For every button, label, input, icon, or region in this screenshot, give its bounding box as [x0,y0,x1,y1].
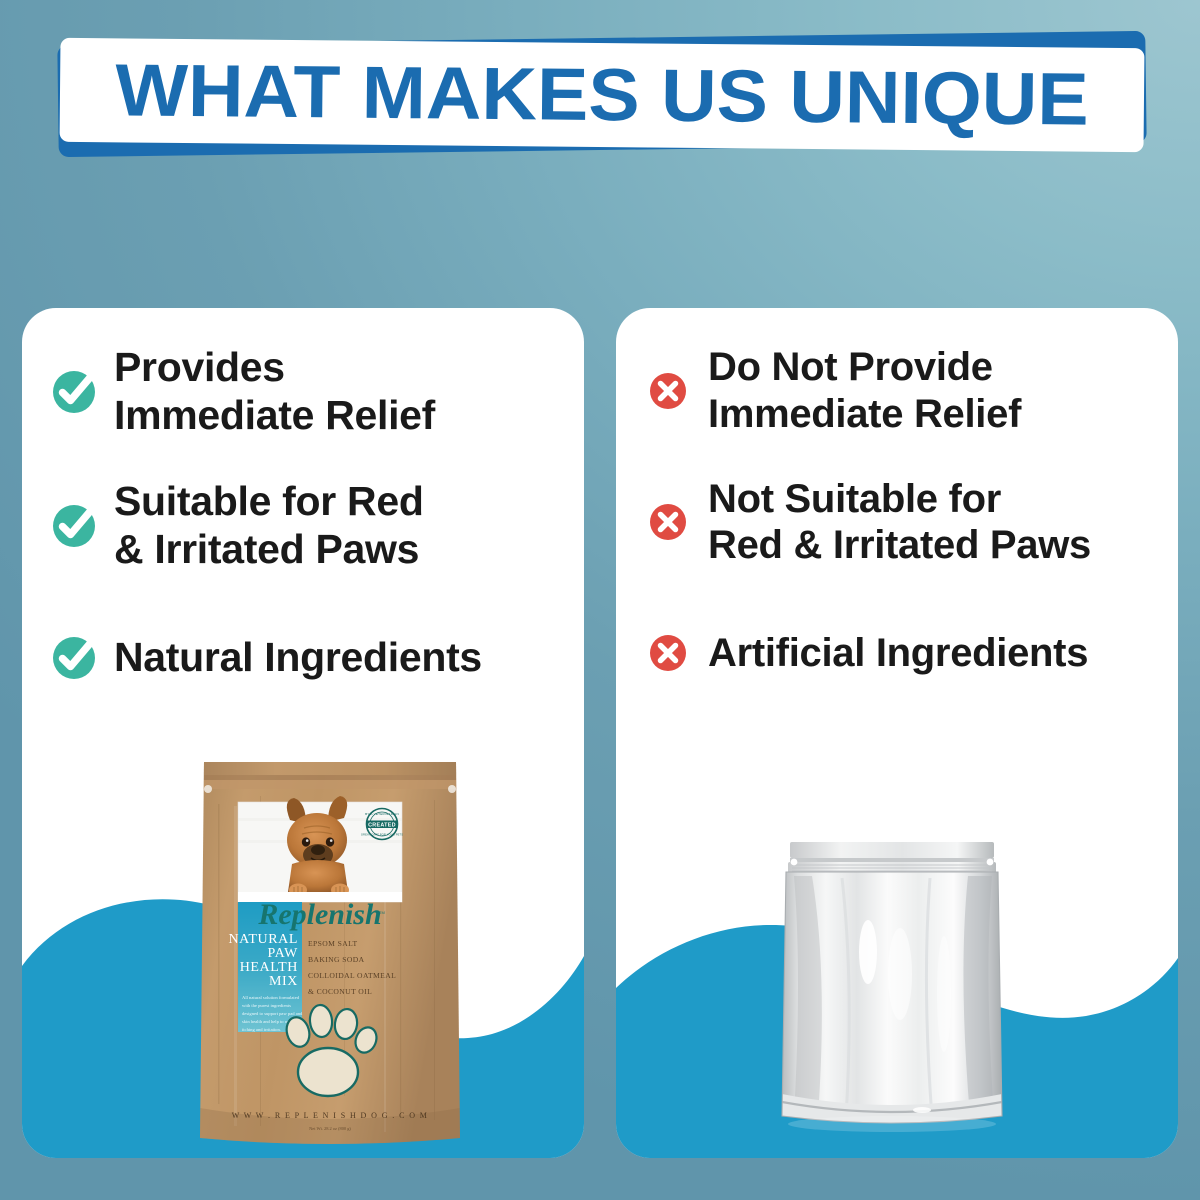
header-banner: WHAT MAKES US UNIQUE [58,38,1146,150]
svg-text:BAKING SODA: BAKING SODA [308,955,365,964]
svg-text:All natural solution formulate: All natural solution formulated [242,995,300,1000]
x-circle-icon [644,629,692,677]
header-band: WHAT MAKES US UNIQUE [60,38,1145,152]
comparison-card-ours: Provides Immediate Relief Suitable for R… [22,308,584,1158]
svg-text:NATURAL: NATURAL [228,932,298,947]
list-item: Provides Immediate Relief [50,344,564,440]
svg-text:EPSOM SALT: EPSOM SALT [308,939,358,948]
list-item: Not Suitable for Red & Irritated Paws [644,476,1158,570]
x-circle-icon [644,367,692,415]
svg-text:designed to support paw pad an: designed to support paw pad and [242,1011,303,1016]
svg-text:HEALTH: HEALTH [240,960,298,975]
list-item-label: Not Suitable for Red & Irritated Paws [708,476,1091,570]
list-item: Suitable for Red & Irritated Paws [50,478,564,574]
svg-text:itching and irritation.: itching and irritation. [242,1027,281,1032]
list-item: Do Not Provide Immediate Relief [644,344,1158,438]
benefits-list: Provides Immediate Relief Suitable for R… [22,344,584,704]
list-item-label: Provides Immediate Relief [114,344,435,440]
svg-text:with the purest ingredients: with the purest ingredients [242,1003,291,1008]
x-circle-icon [644,498,692,546]
check-circle-icon [50,502,98,550]
infographic-canvas: WHAT MAKES US UNIQUE Provides Immediate … [0,0,1200,1200]
svg-text:& COCONUT OIL: & COCONUT OIL [308,987,372,996]
svg-text:PAW: PAW [267,946,298,961]
svg-text:CREATED: CREATED [368,822,396,828]
svg-text:MIX: MIX [269,974,298,989]
check-circle-icon [50,634,98,682]
svg-text:COLLOIDAL OATMEAL: COLLOIDAL OATMEAL [308,971,396,980]
svg-text:GREAT CARE FOR YOUR PETS: GREAT CARE FOR YOUR PETS [361,833,403,837]
veterinarian-seal: CREATED BY A VETERINARIAN GREAT CARE FOR… [361,809,403,840]
svg-text:TM: TM [379,910,385,915]
list-item-label: Artificial Ingredients [708,630,1088,677]
list-item-label: Suitable for Red & Irritated Paws [114,478,424,574]
svg-text:BY A VETERINARIAN: BY A VETERINARIAN [365,812,399,816]
bag-website: W W W . R E P L E N I S H D O G . C O M [232,1111,429,1120]
list-item-label: Do Not Provide Immediate Relief [708,344,1021,438]
bag-net-weight: Net Wt. 28.2 oz (800 g) [309,1126,351,1131]
check-circle-icon [50,368,98,416]
list-item: Natural Ingredients [50,612,564,704]
page-title: WHAT MAKES US UNIQUE [115,53,1089,136]
comparison-card-others: Do Not Provide Immediate Relief Not Suit… [616,308,1178,1158]
list-item-label: Natural Ingredients [114,634,482,682]
brand-script: Replenish [257,898,381,931]
product-bag-replenish: CREATED BY A VETERINARIAN GREAT CARE FOR… [194,756,466,1150]
drawbacks-list: Do Not Provide Immediate Relief Not Suit… [616,344,1178,699]
list-item: Artificial Ingredients [644,607,1158,699]
competitor-bag-blank [772,824,1012,1142]
